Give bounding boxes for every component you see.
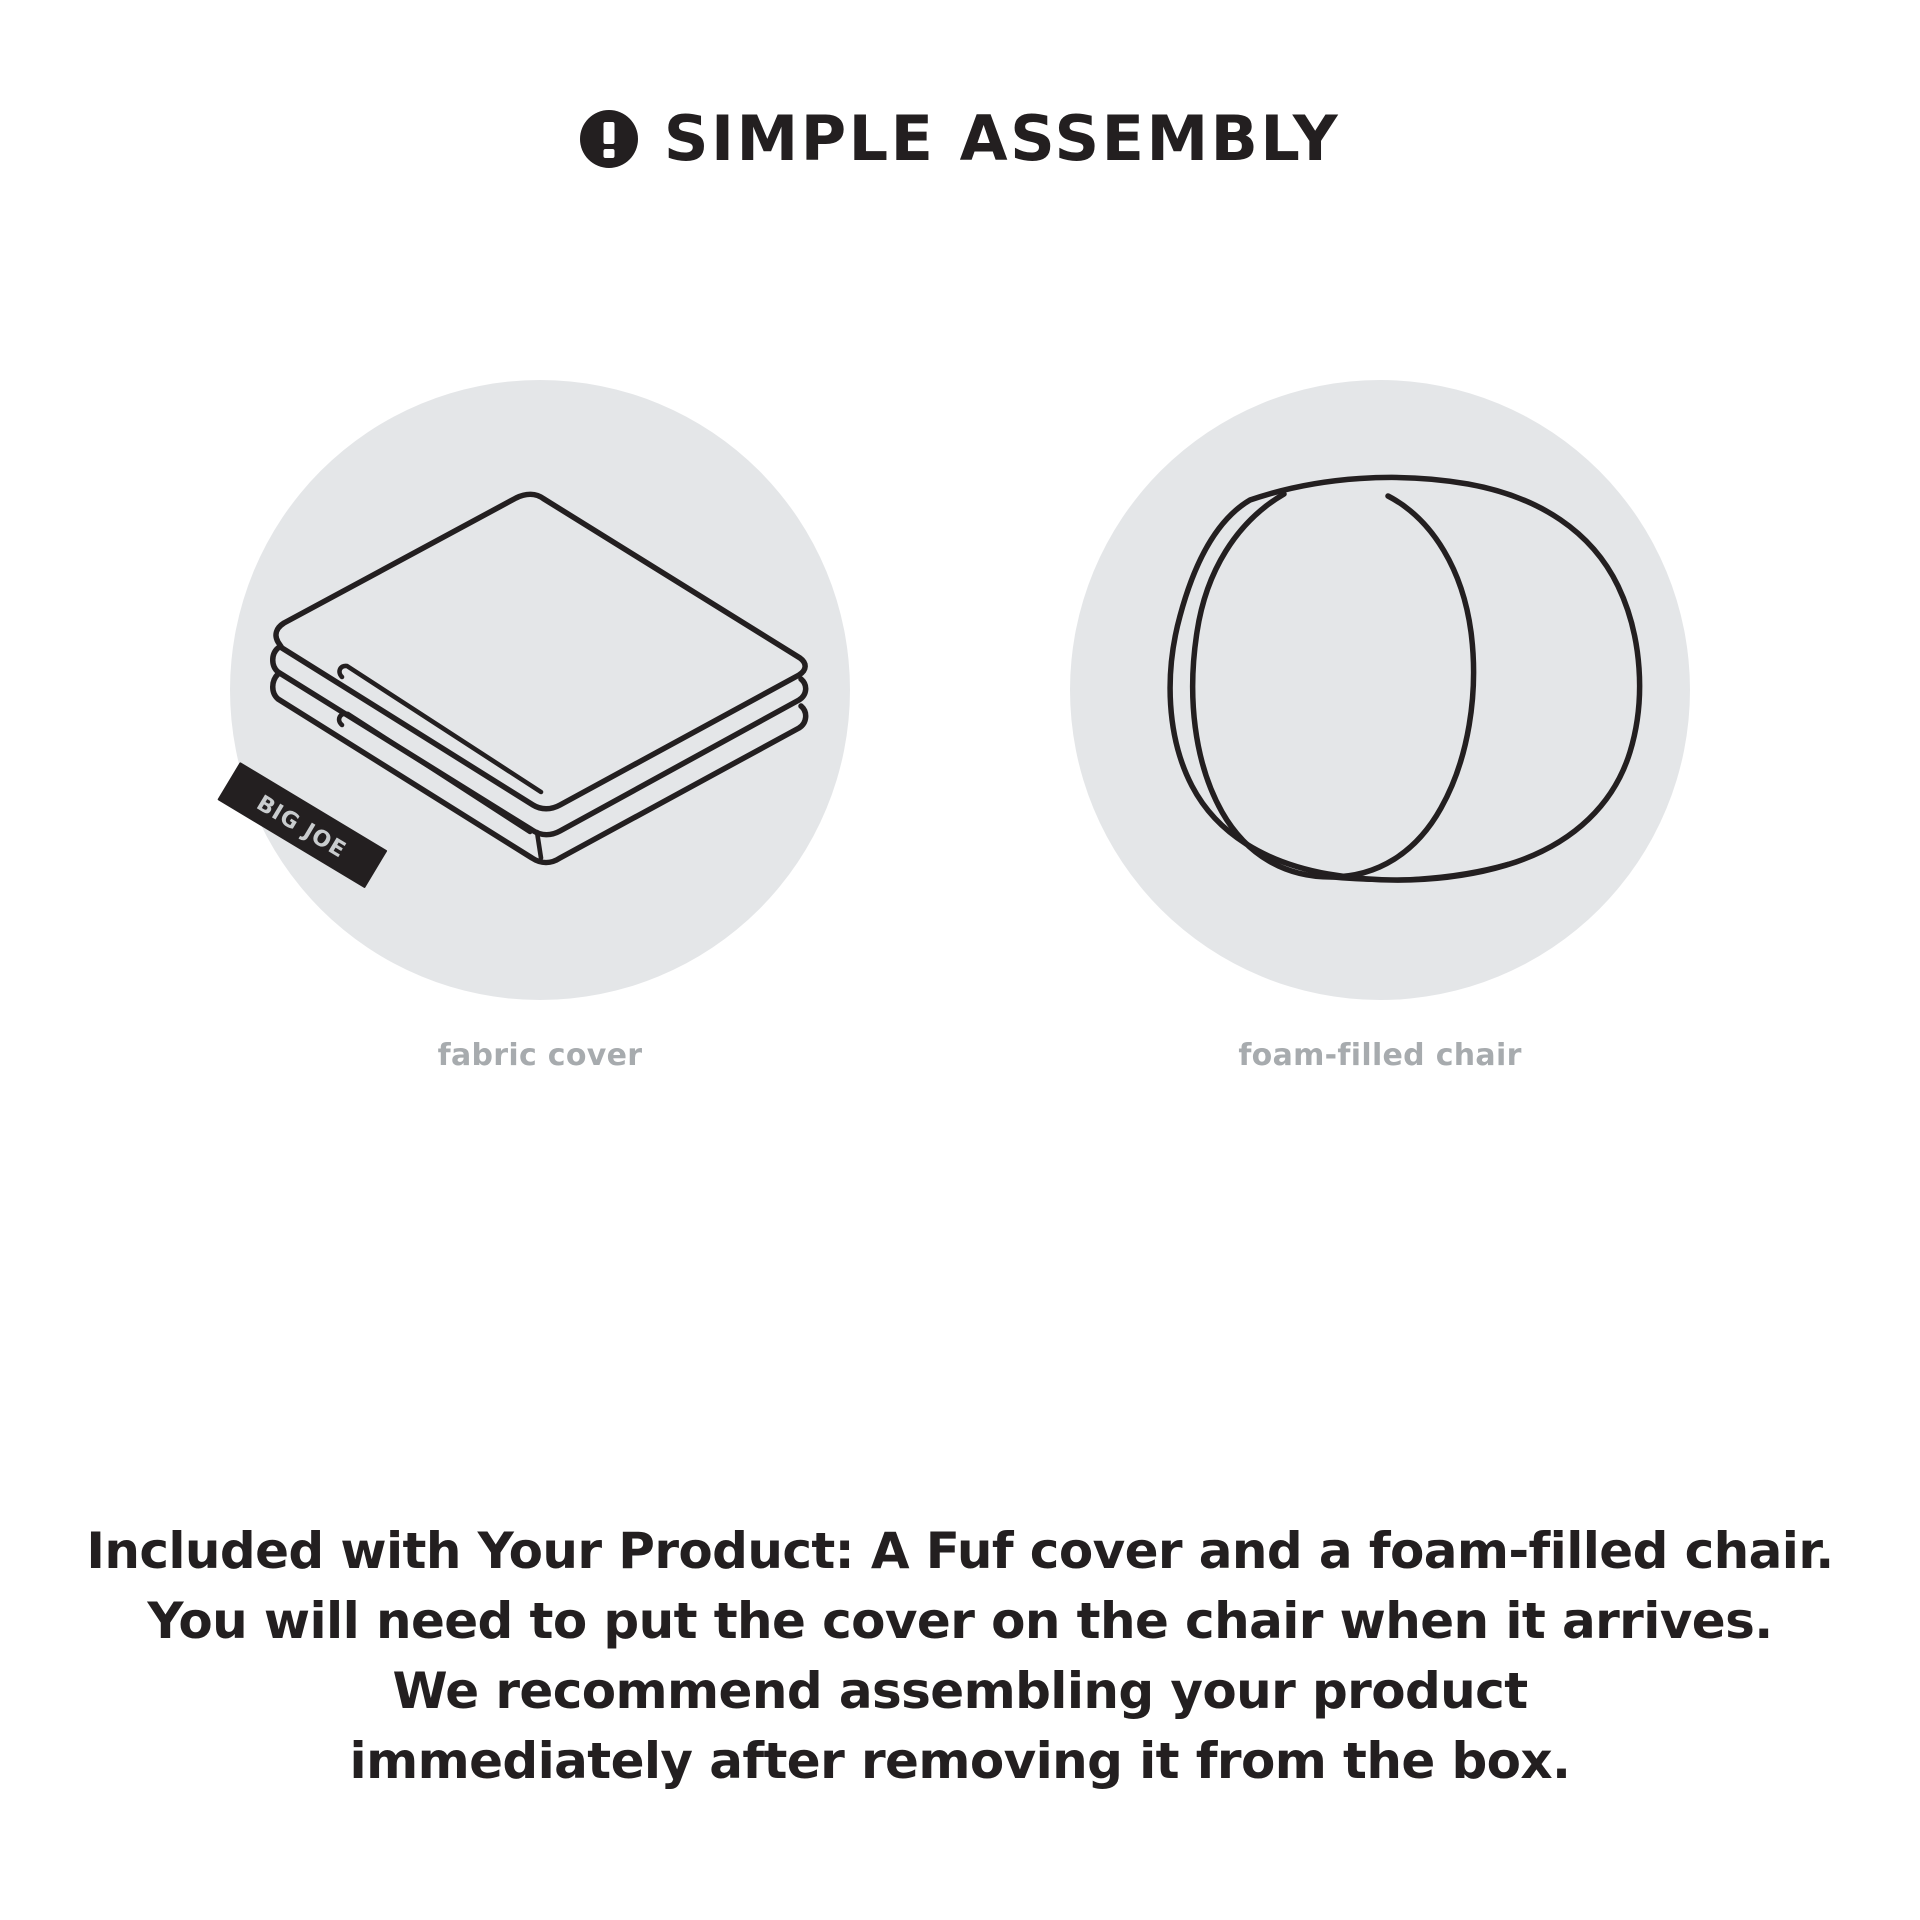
foam-filled-chair-icon xyxy=(1070,380,1690,1000)
footer-line-4: immediately after removing it from the b… xyxy=(0,1726,1920,1796)
footer-line-1: Included with Your Product: A Fuf cover … xyxy=(0,1516,1920,1586)
illustration-fabric-cover: BIG JOE fabric cover xyxy=(220,380,860,1073)
footer-description: Included with Your Product: A Fuf cover … xyxy=(0,1516,1920,1796)
page-title: SIMPLE ASSEMBLY xyxy=(664,108,1340,170)
illustration-foam-filled-chair: foam-filled chair xyxy=(1060,380,1700,1073)
fabric-cover-circle-backdrop: BIG JOE xyxy=(230,380,850,1000)
caption-fabric-cover: fabric cover xyxy=(438,1038,643,1073)
page-header: SIMPLE ASSEMBLY xyxy=(0,108,1920,170)
footer-line-2: You will need to put the cover on the ch… xyxy=(0,1586,1920,1656)
big-joe-tag: BIG JOE xyxy=(217,762,387,888)
assembly-info-card: SIMPLE ASSEMBLY xyxy=(0,0,1920,1920)
folded-fabric-cover-icon: BIG JOE xyxy=(230,380,850,1000)
footer-line-3: We recommend assembling your product xyxy=(0,1656,1920,1726)
foam-chair-circle-backdrop xyxy=(1070,380,1690,1000)
alert-exclamation-icon xyxy=(580,110,638,168)
illustration-row: BIG JOE fabric cover foam-filled chair xyxy=(0,380,1920,1073)
caption-foam-filled-chair: foam-filled chair xyxy=(1238,1038,1521,1073)
